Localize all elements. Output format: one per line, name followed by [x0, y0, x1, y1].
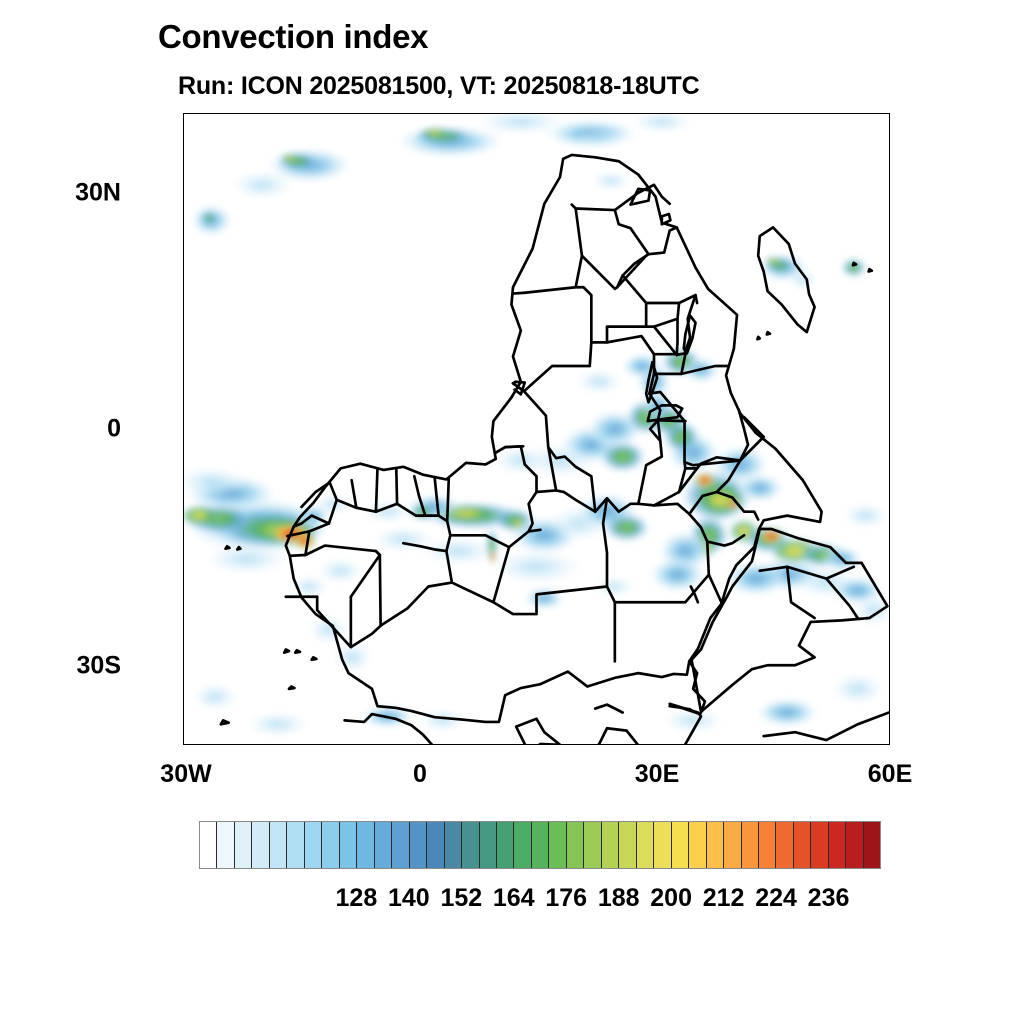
- y-tick-10s: [183, 469, 184, 470]
- colorbar-tick-128: 128: [336, 884, 378, 913]
- convection-field-layer: [184, 114, 889, 737]
- colorbar-tick-188: 188: [598, 884, 640, 913]
- y-axis-label-30s: 30S: [77, 652, 121, 681]
- colorbar-cell-19: [532, 822, 549, 868]
- colorbar-cell-13: [427, 822, 444, 868]
- colorbar-cell-22: [584, 822, 601, 868]
- colorbar-cell-23: [602, 822, 619, 868]
- colorbar-cell-0: [200, 822, 217, 868]
- colorbar-cell-5: [287, 822, 304, 868]
- y-tick-10n: [183, 311, 184, 312]
- colorbar-cell-18: [514, 822, 531, 868]
- colorbar-cell-35: [811, 822, 828, 868]
- y-tick-20s: [183, 548, 184, 549]
- colorbar-tick-152: 152: [440, 884, 482, 913]
- colorbar: [199, 821, 881, 869]
- colorbar-cell-28: [689, 822, 706, 868]
- x-axis-label-30e: 30E: [635, 760, 679, 789]
- colorbar-cell-24: [619, 822, 636, 868]
- colorbar-tick-164: 164: [493, 884, 535, 913]
- x-axis-label-0: 0: [413, 760, 427, 789]
- y-tick-30n: [183, 154, 184, 156]
- colorbar-cell-15: [462, 822, 479, 868]
- colorbar-cell-9: [357, 822, 374, 868]
- colorbar-cell-7: [322, 822, 339, 868]
- map-canvas: [184, 114, 889, 744]
- colorbar-cell-3: [252, 822, 269, 868]
- colorbar-cell-29: [707, 822, 724, 868]
- y-tick-30s: [183, 627, 184, 629]
- x-axis-label-30w: 30W: [160, 760, 211, 789]
- colorbar-cell-17: [497, 822, 514, 868]
- page-title: Convection index: [158, 18, 428, 56]
- y-axis-label-30n: 30N: [75, 179, 121, 208]
- colorbar-cell-33: [776, 822, 793, 868]
- colorbar-cell-12: [410, 822, 427, 868]
- colorbar-tick-212: 212: [703, 884, 745, 913]
- colorbar-cell-1: [217, 822, 234, 868]
- run-valid-time-subtitle: Run: ICON 2025081500, VT: 20250818-18UTC: [178, 72, 699, 101]
- colorbar-cell-2: [235, 822, 252, 868]
- colorbar-tick-200: 200: [650, 884, 692, 913]
- x-axis-label-60e: 60E: [868, 760, 912, 789]
- map-plot-area: [183, 113, 890, 745]
- colorbar-cell-4: [270, 822, 287, 868]
- y-axis-label-0: 0: [107, 415, 121, 444]
- colorbar-cell-20: [549, 822, 566, 868]
- colorbar-cell-37: [846, 822, 863, 868]
- colorbar-tick-176: 176: [545, 884, 587, 913]
- colorbar-cell-26: [654, 822, 671, 868]
- y-tick-20n: [183, 232, 184, 233]
- colorbar-tick-224: 224: [755, 884, 797, 913]
- convection-index-map-figure: Convection index Run: ICON 2025081500, V…: [0, 0, 1024, 1024]
- colorbar-cell-38: [864, 822, 880, 868]
- colorbar-cell-14: [445, 822, 462, 868]
- colorbar-cell-11: [392, 822, 409, 868]
- colorbar-cell-30: [724, 822, 741, 868]
- colorbar-cell-31: [742, 822, 759, 868]
- colorbar-cell-27: [672, 822, 689, 868]
- colorbar-cell-10: [375, 822, 392, 868]
- colorbar-cell-21: [567, 822, 584, 868]
- colorbar-cell-6: [305, 822, 322, 868]
- colorbar-tick-140: 140: [388, 884, 430, 913]
- colorbar-cell-36: [829, 822, 846, 868]
- colorbar-cell-34: [794, 822, 811, 868]
- colorbar-cell-25: [637, 822, 654, 868]
- colorbar-cell-32: [759, 822, 776, 868]
- colorbar-cell-8: [340, 822, 357, 868]
- colorbar-cell-16: [480, 822, 497, 868]
- colorbar-tick-236: 236: [808, 884, 850, 913]
- y-tick-0: [183, 390, 184, 392]
